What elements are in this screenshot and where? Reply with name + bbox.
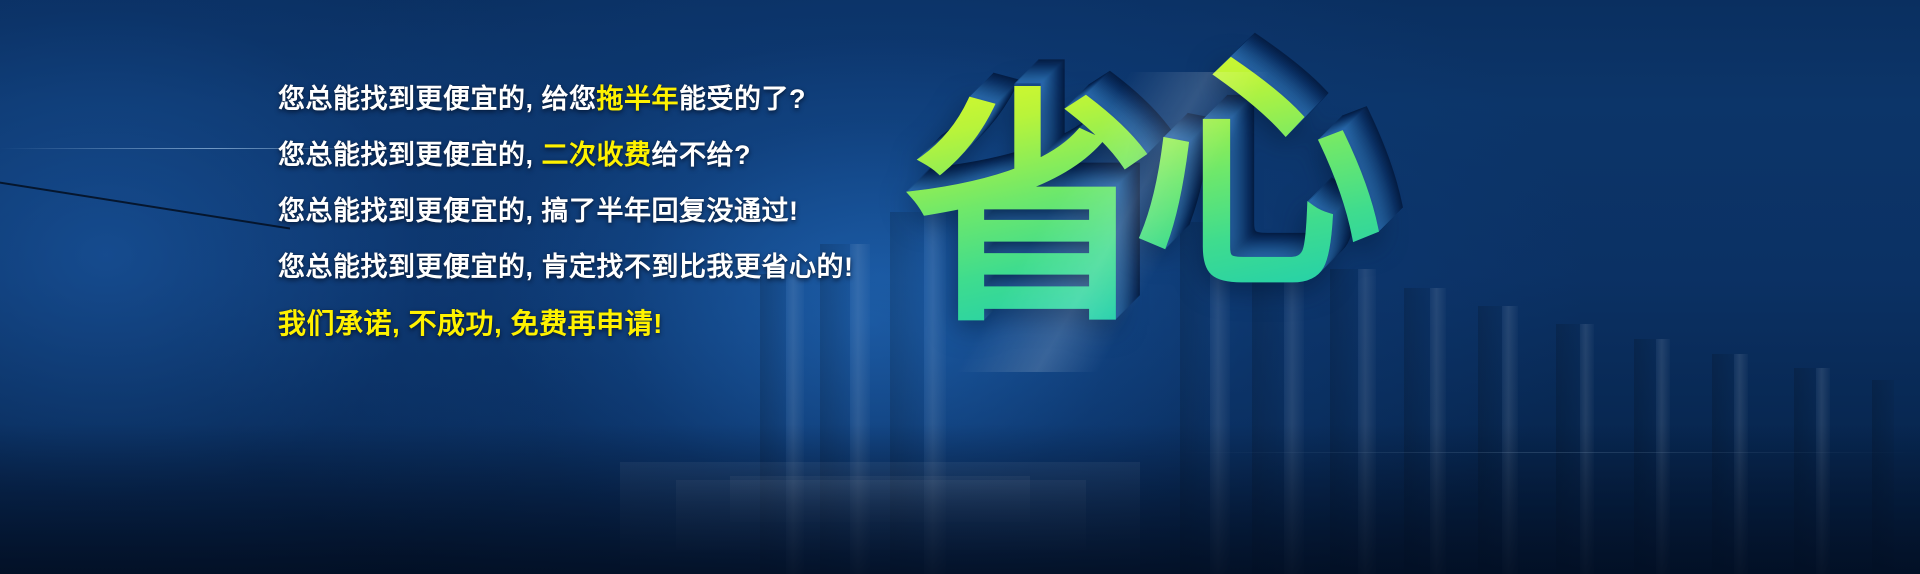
copy-line-2-suffix: 给不给? — [652, 140, 752, 170]
pillar — [1734, 354, 1748, 574]
pillar — [1794, 368, 1816, 574]
copy-line-1-suffix: 能受的了? — [679, 84, 806, 114]
pillar — [1872, 380, 1894, 574]
copy-line-2-prefix: 您总能找到更便宜的, — [278, 140, 542, 170]
copy-line-2: 您总能找到更便宜的, 二次收费给不给? — [278, 142, 898, 169]
pillar — [1404, 288, 1430, 574]
copy-block: 您总能找到更便宜的, 给您拖半年能受的了? 您总能找到更便宜的, 二次收费给不给… — [278, 86, 898, 338]
floor-shadow — [0, 424, 1920, 574]
copy-line-2-highlight: 二次收费 — [542, 140, 652, 170]
pillar — [1430, 288, 1446, 574]
copy-line-3: 您总能找到更便宜的, 搞了半年回复没通过! — [278, 198, 898, 225]
headline-char-sheng: 省 — [905, 86, 1155, 336]
pillar — [1656, 339, 1670, 574]
headline-char-xin: 心 — [1133, 52, 1383, 302]
floor-slab — [620, 462, 1140, 574]
pillar — [1580, 324, 1594, 574]
pillar — [1502, 306, 1518, 574]
pillar — [1712, 354, 1734, 574]
pillar — [1478, 306, 1502, 574]
copy-line-1: 您总能找到更便宜的, 给您拖半年能受的了? — [278, 86, 898, 113]
pillar — [1816, 368, 1830, 574]
copy-line-1-prefix: 您总能找到更便宜的, 给您 — [278, 84, 597, 114]
copy-line-1-highlight: 拖半年 — [597, 84, 680, 114]
pillar — [1634, 339, 1656, 574]
promise-line: 我们承诺, 不成功, 免费再申请! — [278, 310, 898, 338]
overhead-wire — [0, 112, 290, 230]
copy-line-4: 您总能找到更便宜的, 肯定找不到比我更省心的! — [278, 254, 898, 281]
headline-3d: 省 心 省 心 — [905, 52, 1375, 392]
floor-slab — [676, 480, 1086, 550]
light-streak — [1180, 452, 1920, 453]
pillar — [1556, 324, 1580, 574]
floor-slab — [730, 476, 1030, 522]
promo-banner: 省 心 省 心 您总能找到更便宜的, 给您拖半年能受的了? 您总能找到更便宜的,… — [0, 0, 1920, 574]
